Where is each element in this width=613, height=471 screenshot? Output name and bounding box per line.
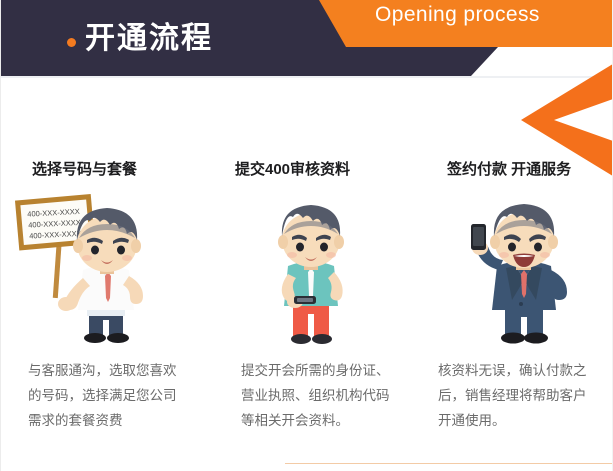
- man-in-suit-holding-phone-icon: [453, 188, 595, 352]
- step-body-3: 核资料无误，确认付款之 后，销售经理将帮助客户 开通使用。: [438, 358, 613, 433]
- step-body-1: 与客服通沟，选取您喜欢 的号码，选择满足您公司 需求的套餐资费: [28, 358, 228, 433]
- page-title: 开通流程: [85, 22, 213, 56]
- dot-icon: [67, 38, 76, 47]
- man-holding-sign-icon: 400-XXX-XXXX 400-XXX-XXXX 400-XXX-XXXX: [13, 192, 165, 352]
- footer-divider: [285, 463, 613, 464]
- step-title-3: 签约付款 开通服务: [447, 160, 571, 180]
- step-body-2: 提交开会所需的身份证、 营业执照、组织机构代码 等相关开会资料。: [241, 358, 446, 433]
- step-title-2: 提交400审核资料: [235, 160, 350, 180]
- banner-title-group: 开通流程: [67, 22, 213, 56]
- step-title-1: 选择号码与套餐: [32, 160, 137, 180]
- opening-process-infographic: 开通流程 Opening process 选择号码与套餐 提交400审核资料 签…: [0, 0, 613, 471]
- man-holding-device-icon: [246, 192, 376, 352]
- banner-subtitle-en: Opening process: [375, 1, 540, 29]
